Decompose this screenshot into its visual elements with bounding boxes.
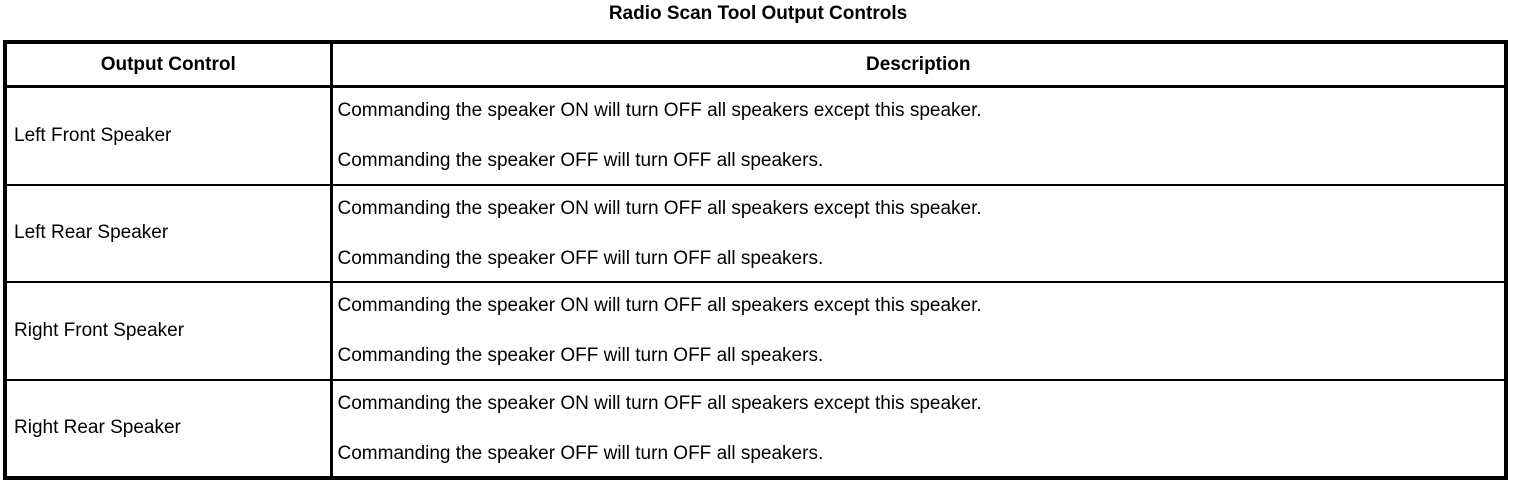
output-controls-table-container: Output Control Description Left Front Sp… [3,40,1508,480]
description-line-off: Commanding the speaker OFF will turn OFF… [338,247,1505,270]
column-header-output-control: Output Control [7,44,331,87]
table-row: Right Rear Speaker Commanding the speake… [7,380,1504,476]
description-line-on: Commanding the speaker ON will turn OFF … [338,197,1505,220]
page-title: Radio Scan Tool Output Controls [0,2,1516,26]
cell-output-control: Right Rear Speaker [7,380,331,476]
cell-description: Commanding the speaker ON will turn OFF … [331,185,1504,283]
cell-output-control: Right Front Speaker [7,282,331,380]
document-page: Radio Scan Tool Output Controls Output C… [0,0,1520,484]
table-row: Left Rear Speaker Commanding the speaker… [7,185,1504,283]
description-line-on: Commanding the speaker ON will turn OFF … [338,392,1505,415]
description-line-off: Commanding the speaker OFF will turn OFF… [338,344,1505,367]
description-spacer [338,220,1505,247]
description-line-on: Commanding the speaker ON will turn OFF … [338,294,1505,317]
table-body: Left Front Speaker Commanding the speake… [7,87,1504,477]
output-controls-table: Output Control Description Left Front Sp… [7,44,1504,476]
description-line-on: Commanding the speaker ON will turn OFF … [338,99,1505,122]
table-header: Output Control Description [7,44,1504,87]
table-header-row: Output Control Description [7,44,1504,87]
cell-description: Commanding the speaker ON will turn OFF … [331,380,1504,476]
description-spacer [338,122,1505,149]
description-spacer [338,415,1505,442]
cell-output-control: Left Front Speaker [7,87,331,185]
cell-description: Commanding the speaker ON will turn OFF … [331,87,1504,185]
description-line-off: Commanding the speaker OFF will turn OFF… [338,442,1505,465]
column-header-description: Description [331,44,1504,87]
table-row: Right Front Speaker Commanding the speak… [7,282,1504,380]
table-row: Left Front Speaker Commanding the speake… [7,87,1504,185]
cell-description: Commanding the speaker ON will turn OFF … [331,282,1504,380]
cell-output-control: Left Rear Speaker [7,185,331,283]
description-spacer [338,317,1505,344]
description-line-off: Commanding the speaker OFF will turn OFF… [338,149,1505,172]
